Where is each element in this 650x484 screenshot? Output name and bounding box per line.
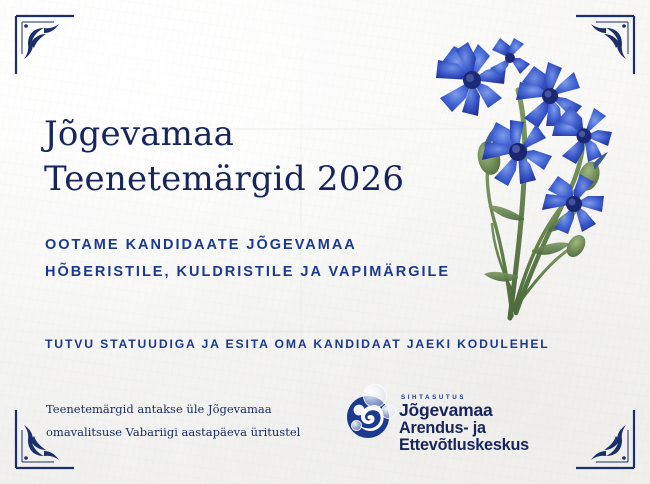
footnote: Teenetemärgid antakse üle Jõgevamaa omav…	[46, 398, 311, 444]
call-to-action-text: TUTVU STATUUDIGA JA ESITA OMA KANDIDAAT …	[45, 337, 615, 351]
headline-line-1: Jõgevamaa	[44, 112, 464, 157]
logo-name-line-1: Jõgevamaa	[399, 400, 493, 420]
page-title: Jõgevamaa Teenetemärgid 2026	[44, 112, 464, 202]
logo-name-line-2: Arendus- ja Ettevõtluskeskus	[399, 420, 609, 455]
footnote-line-2: omavalitsuse Vabariigi aastapäeva üritus…	[46, 421, 311, 444]
subheading: OOTAME KANDIDAATE JÕGEVAMAA HÕBERISTILE,…	[45, 232, 525, 286]
logo-name: Jõgevamaa Arendus- ja Ettevõtluskeskus	[399, 401, 609, 455]
organisation-logo: SIHTASUTUS Jõgevamaa Arendus- ja Ettevõt…	[345, 390, 610, 446]
headline-line-2: Teenetemärgid 2026	[44, 157, 464, 202]
logo-wordmark: SIHTASUTUS Jõgevamaa Arendus- ja Ettevõt…	[399, 390, 609, 455]
poster-canvas: Jõgevamaa Teenetemärgid 2026 OOTAME KAND…	[0, 0, 650, 484]
swirl-logo-icon	[345, 394, 391, 440]
subheading-line-2: HÕBERISTILE, KULDRISTILE JA VAPIMÄRGILE	[45, 259, 525, 286]
footnote-line-1: Teenetemärgid antakse üle Jõgevamaa	[46, 398, 311, 421]
subheading-line-1: OOTAME KANDIDAATE JÕGEVAMAA	[45, 232, 525, 259]
corner-flourish-ornament-top-left	[14, 14, 76, 76]
